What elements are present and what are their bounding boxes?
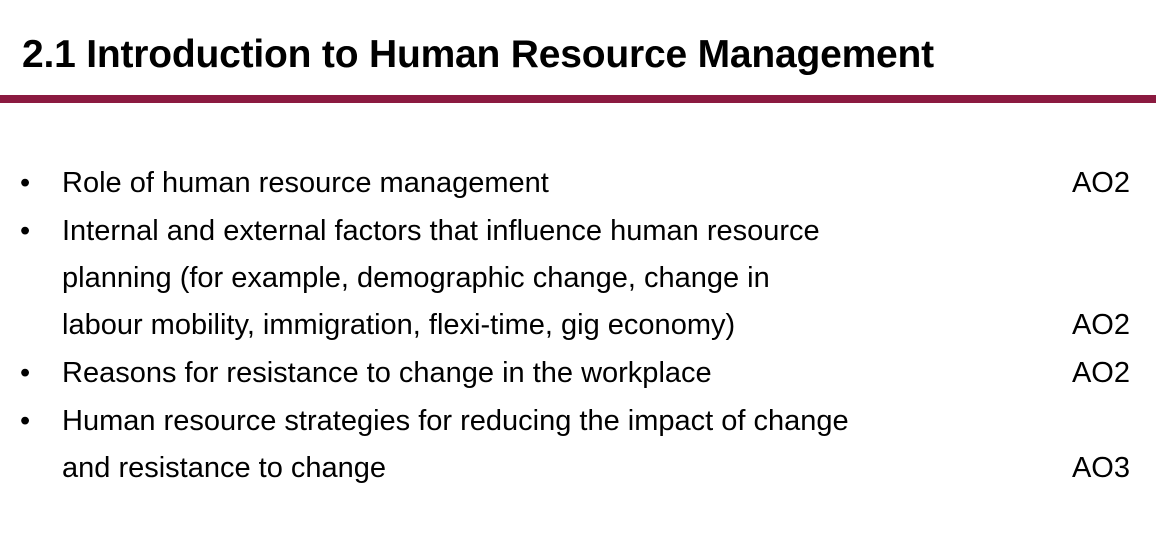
list-item-line: Internal and external factors that influ… <box>62 208 1130 255</box>
list-item: •Role of human resource managementAO2 <box>0 160 1156 207</box>
bullet-dot-icon: • <box>20 398 42 445</box>
assessment-objective-code: AO3 <box>1072 445 1130 492</box>
list-item: •Reasons for resistance to change in the… <box>0 350 1156 397</box>
list-item-lines: Human resource strategies for reducing t… <box>62 398 1130 492</box>
list-item-line: planning (for example, demographic chang… <box>62 255 1130 302</box>
list-item-line: labour mobility, immigration, flexi-time… <box>62 302 1130 349</box>
list-item-text: planning (for example, demographic chang… <box>62 255 770 302</box>
bullet-dot-icon: • <box>20 208 42 255</box>
assessment-objective-code: AO2 <box>1072 160 1130 207</box>
slide: 2.1 Introduction to Human Resource Manag… <box>0 0 1156 534</box>
list-item-lines: Internal and external factors that influ… <box>62 208 1130 349</box>
page-title: 2.1 Introduction to Human Resource Manag… <box>22 32 934 78</box>
list-item-line: and resistance to changeAO3 <box>62 445 1130 492</box>
bullet-dot-icon: • <box>20 160 42 207</box>
bullet-list: •Role of human resource managementAO2•In… <box>0 160 1156 493</box>
list-item-lines: Reasons for resistance to change in the … <box>62 350 1130 397</box>
list-item-text: Role of human resource management <box>62 160 549 207</box>
list-item-line: Reasons for resistance to change in the … <box>62 350 1130 397</box>
list-item-text: and resistance to change <box>62 445 386 492</box>
list-item-line: Role of human resource managementAO2 <box>62 160 1130 207</box>
list-item-line: Human resource strategies for reducing t… <box>62 398 1130 445</box>
list-item-text: Human resource strategies for reducing t… <box>62 398 849 445</box>
bullet-dot-icon: • <box>20 350 42 397</box>
list-item: •Human resource strategies for reducing … <box>0 398 1156 492</box>
assessment-objective-code: AO2 <box>1072 302 1130 349</box>
list-item-lines: Role of human resource managementAO2 <box>62 160 1130 207</box>
assessment-objective-code: AO2 <box>1072 350 1130 397</box>
slide-header: 2.1 Introduction to Human Resource Manag… <box>0 0 1156 96</box>
list-item-text: labour mobility, immigration, flexi-time… <box>62 302 735 349</box>
title-divider-rule <box>0 95 1156 103</box>
list-item-text: Reasons for resistance to change in the … <box>62 350 712 397</box>
list-item-text: Internal and external factors that influ… <box>62 208 820 255</box>
list-item: •Internal and external factors that infl… <box>0 208 1156 349</box>
